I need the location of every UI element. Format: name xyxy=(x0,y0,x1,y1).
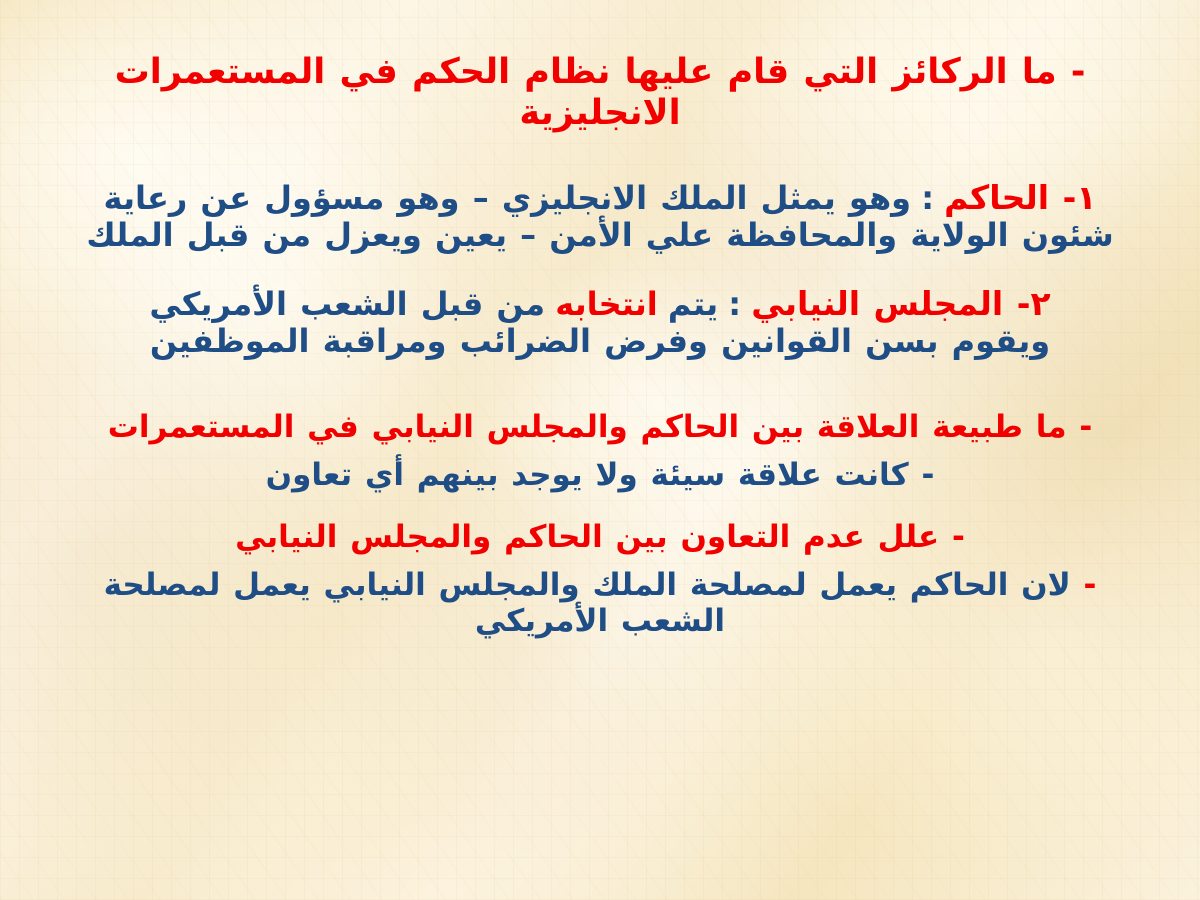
question-no-cooperation-dash: - xyxy=(952,519,965,555)
answer-relationship: - كانت علاقة سيئة ولا يوجد بينهم أي تعاو… xyxy=(36,458,1164,494)
answer-no-cooperation-line-1: لان الحاكم يعمل لمصلحة الملك والمجلس الن… xyxy=(104,567,1071,603)
answer-relationship-text: كانت علاقة سيئة ولا يوجد بينهم أي تعاون xyxy=(266,457,909,493)
item-2-colon: : xyxy=(728,285,741,323)
question-relationship-text: ما طبيعة العلاقة بين الحاكم والمجلس الني… xyxy=(108,409,1067,445)
answer-no-cooperation: - لان الحاكم يعمل لمصلحة الملك والمجلس ا… xyxy=(36,568,1164,640)
question-no-cooperation: - علل عدم التعاون بين الحاكم والمجلس الن… xyxy=(36,520,1164,556)
item-1-body-line-1: وهو يمثل الملك الانجليزي – وهو مسؤول عن … xyxy=(104,179,912,217)
item-2-label: ٢- المجلس النيابي xyxy=(751,284,1050,323)
item-1-body-line-2: شئون الولاية والمحافظة علي الأمن – يعين … xyxy=(60,217,1140,254)
question-no-cooperation-text: علل عدم التعاون بين الحاكم والمجلس النيا… xyxy=(235,519,939,555)
answer-no-cooperation-dash: - xyxy=(1084,567,1097,603)
answer-no-cooperation-line-2: الشعب الأمريكي xyxy=(52,604,1148,640)
slide-title: - ما الركائز التي قام عليها نظام الحكم ف… xyxy=(36,52,1164,133)
list-item-assembly: ٢- المجلس النيابي : يتم انتخابه من قبل ا… xyxy=(36,285,1164,360)
item-1-label: ١- الحاكم xyxy=(944,178,1096,217)
slide-content: - ما الركائز التي قام عليها نظام الحكم ف… xyxy=(0,0,1200,900)
item-2-body-rest: من قبل الشعب الأمريكي xyxy=(149,285,545,323)
list-item-governor: ١- الحاكم : وهو يمثل الملك الانجليزي – و… xyxy=(36,179,1164,254)
item-2-body-line-2: ويقوم بسن القوانين وفرض الضرائب ومراقبة … xyxy=(60,323,1140,360)
answer-relationship-dash: - xyxy=(921,457,934,493)
item-1-colon: : xyxy=(921,179,934,217)
item-2-body-lead: يتم xyxy=(668,285,718,323)
question-relationship: - ما طبيعة العلاقة بين الحاكم والمجلس ال… xyxy=(36,410,1164,446)
slide-canvas: - ما الركائز التي قام عليها نظام الحكم ف… xyxy=(0,0,1200,900)
item-2-body-highlight: انتخابه xyxy=(555,285,658,323)
question-relationship-dash: - xyxy=(1079,409,1092,445)
section-spacer xyxy=(36,390,1164,410)
